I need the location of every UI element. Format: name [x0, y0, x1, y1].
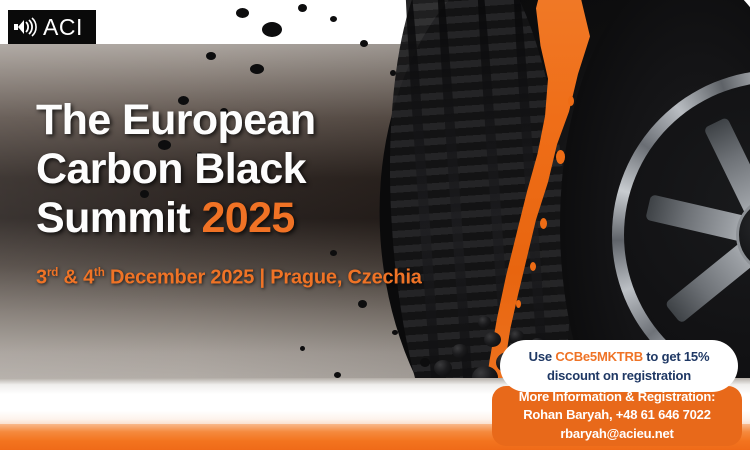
- event-dateline: 3rd & 4th December 2025 | Prague, Czechi…: [36, 266, 422, 290]
- carbon-particle: [420, 358, 430, 367]
- paint-drip: [516, 300, 521, 308]
- offer-prefix: Use: [529, 349, 556, 364]
- headline-line-2: Carbon Black: [36, 145, 466, 194]
- date-separator: &: [58, 267, 83, 289]
- carbon-pellet: [478, 316, 491, 328]
- headline-line-3: Summit 2025: [36, 194, 466, 243]
- contact-email[interactable]: rbaryah@acieu.net: [492, 425, 742, 443]
- carbon-particle: [330, 250, 337, 256]
- day-one-ordinal: rd: [47, 266, 58, 279]
- discount-code[interactable]: CCBe5MKTRB: [555, 349, 643, 364]
- carbon-particle: [250, 64, 264, 74]
- paint-drip: [556, 150, 565, 164]
- event-promo-banner: ACI The European Carbon Black Summit 202…: [0, 0, 750, 450]
- carbon-pellet: [452, 344, 468, 358]
- headline-line-1: The European: [36, 96, 466, 145]
- carbon-particle: [300, 346, 305, 351]
- carbon-particle: [358, 300, 367, 308]
- aci-logo[interactable]: ACI: [8, 10, 96, 44]
- carbon-pellet: [434, 360, 452, 376]
- carbon-particle: [390, 70, 396, 76]
- headline-year: 2025: [201, 194, 294, 242]
- offer-suffix: to get 15%: [643, 349, 709, 364]
- sound-wave-icon: [13, 15, 41, 39]
- discount-offer-line-2: discount on registration: [547, 366, 691, 386]
- date-location-text: December 2025 | Prague, Czechia: [105, 267, 422, 289]
- registration-contact-panel[interactable]: More Information & Registration: Rohan B…: [492, 386, 742, 446]
- headline-summit-text: Summit: [36, 194, 201, 242]
- carbon-pellet: [484, 332, 501, 347]
- paint-drip: [568, 96, 574, 106]
- carbon-particle: [206, 52, 216, 60]
- contact-name-phone: Rohan Baryah, +48 61 646 7022: [492, 406, 742, 424]
- day-two-ordinal: th: [94, 266, 105, 279]
- aci-logo-text: ACI: [43, 16, 83, 39]
- carbon-particle: [236, 8, 249, 18]
- carbon-particle: [330, 16, 337, 22]
- paint-drip: [530, 262, 536, 271]
- carbon-particle: [392, 330, 398, 335]
- carbon-particle: [298, 4, 307, 12]
- carbon-particle: [262, 22, 282, 37]
- carbon-particle: [360, 40, 368, 47]
- day-two: 4: [83, 267, 94, 289]
- discount-code-pill[interactable]: Use CCBe5MKTRB to get 15% discount on re…: [500, 340, 738, 392]
- discount-offer-line: Use CCBe5MKTRB to get 15%: [529, 347, 710, 367]
- day-one: 3: [36, 267, 47, 289]
- paint-drip: [540, 218, 547, 229]
- headline-block: The European Carbon Black Summit 2025: [36, 96, 466, 243]
